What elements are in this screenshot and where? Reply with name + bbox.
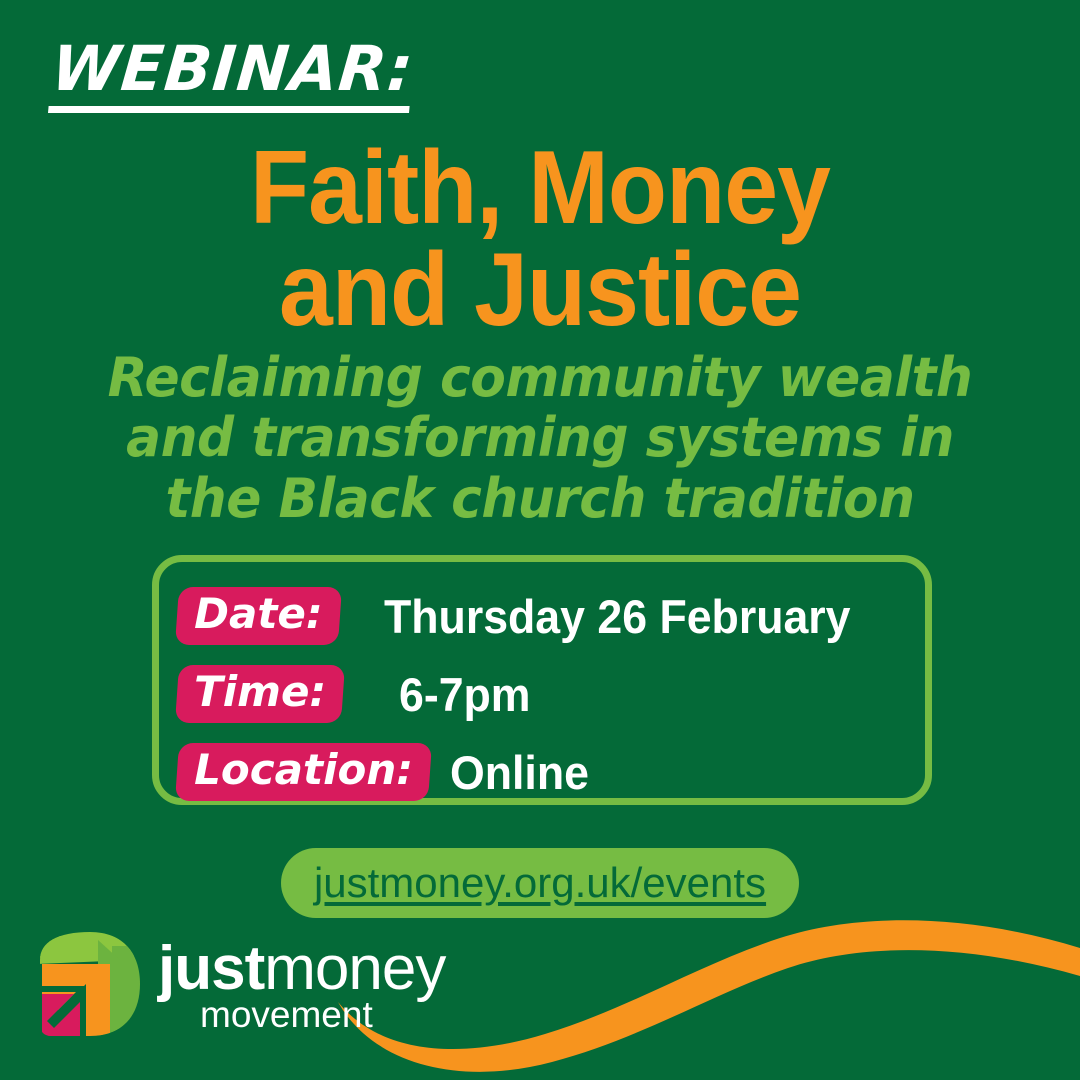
event-details-box: Date: Thursday 26 February Time: 6-7pm L… bbox=[152, 555, 932, 805]
event-details-rows: Date: Thursday 26 February Time: 6-7pm L… bbox=[159, 562, 939, 814]
title-line-2: and Justice bbox=[38, 240, 1042, 342]
brand-name-money: money bbox=[264, 934, 445, 1003]
justmoney-logo-mark-icon bbox=[36, 930, 144, 1038]
title-line-1: Faith, Money bbox=[38, 138, 1042, 240]
subtitle-line-3: the Black church tradition bbox=[22, 469, 1059, 529]
detail-value-time: 6-7pm bbox=[399, 671, 531, 718]
brand-wordmark: justmoney movement bbox=[158, 938, 445, 1033]
subtitle-line-1: Reclaiming community wealth bbox=[22, 348, 1059, 408]
detail-row-date: Date: Thursday 26 February bbox=[177, 580, 939, 652]
url-pill[interactable]: justmoney.org.uk/events bbox=[281, 848, 799, 918]
detail-label-location: Location: bbox=[175, 743, 432, 801]
brand-logo: justmoney movement bbox=[36, 930, 445, 1038]
poster-canvas: WEBINAR: Faith, Money and Justice Reclai… bbox=[0, 0, 1080, 1080]
detail-row-time: Time: 6-7pm bbox=[177, 658, 939, 730]
detail-label-location-text: Location: bbox=[194, 749, 413, 791]
detail-row-location: Location: Online bbox=[177, 736, 939, 808]
url-link[interactable]: justmoney.org.uk/events bbox=[314, 862, 766, 904]
detail-label-date-text: Date: bbox=[194, 593, 323, 635]
kicker: WEBINAR: bbox=[48, 38, 748, 113]
detail-value-location: Online bbox=[450, 749, 589, 796]
page-subtitle: Reclaiming community wealth and transfor… bbox=[22, 348, 1059, 529]
page-title: Faith, Money and Justice bbox=[38, 138, 1042, 342]
detail-value-date: Thursday 26 February bbox=[384, 593, 851, 640]
subtitle-line-2: and transforming systems in bbox=[22, 408, 1059, 468]
detail-label-date: Date: bbox=[175, 587, 342, 645]
brand-name-just: just bbox=[158, 934, 264, 1003]
kicker-label: WEBINAR: bbox=[48, 38, 416, 113]
brand-name: justmoney bbox=[158, 938, 445, 1000]
detail-label-time-text: Time: bbox=[194, 671, 326, 713]
detail-label-time: Time: bbox=[175, 665, 345, 723]
